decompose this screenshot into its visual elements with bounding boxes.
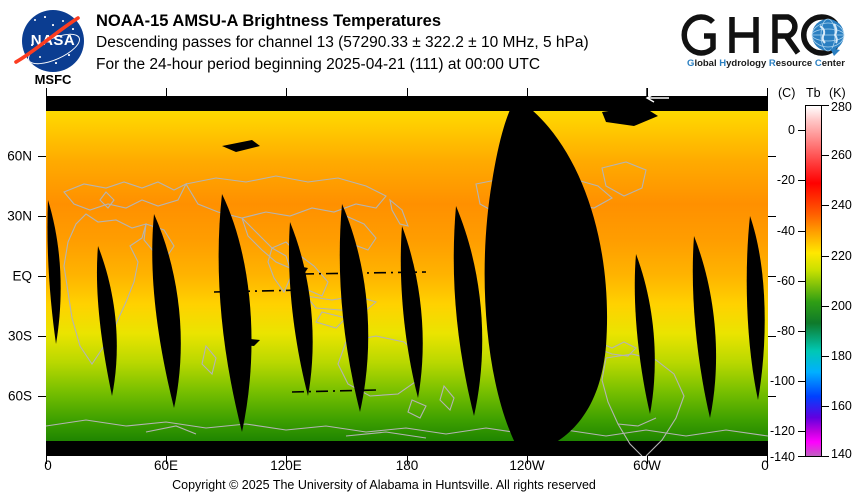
x-tick-top-120E [286,88,287,96]
x-tick-top-120W [527,88,528,96]
y-tick-right-EQ [768,276,776,277]
x-tick-top-60E [166,88,167,96]
cb-label-k-140: 140 [831,447,852,461]
colorbar-gradient [805,105,822,457]
cb-tick-c-0 [798,130,805,131]
ghrc-lettermark-icon [680,8,848,60]
cb-label-k-160: 160 [831,399,852,413]
ghrc-sub-ydrology: ydrology [726,58,769,69]
cb-tick-c-m100 [798,381,805,382]
cb-tick-k-240 [822,205,829,206]
x-axis-label-120E: 120E [270,458,302,473]
y-tick-60N [38,156,46,157]
x-axis-label-180: 180 [396,458,419,473]
cb-tick-k-280 [822,105,829,106]
x-axis-label-0: 0 [44,458,52,473]
cb-label-k-180: 180 [831,349,852,363]
cb-label-k-260: 260 [831,148,852,162]
cb-tick-k-160 [822,406,829,407]
ghrc-sub-esource: esource [776,58,815,69]
x-axis-label-60E: 60E [154,458,178,473]
cb-tick-k-220 [822,256,829,257]
orbital-data-gaps [46,96,768,456]
y-tick-right-30S [768,336,776,337]
x-tick-top-180 [407,88,408,96]
map-plot[interactable]: 0 60E 120E 180 120W 60W 0 60N 30N EQ 30S… [46,96,768,456]
nasa-center-label: MSFC [16,72,90,87]
nasa-swoosh-icon [12,12,84,68]
x-tick-top-360 [767,88,768,96]
ghrc-logo: Global Hydrology Resource Center [680,8,848,78]
ghrc-sub-global: lobal [694,58,719,69]
x-tick-top-0 [46,88,47,96]
cb-label-c-m140: -140 [770,450,795,464]
brightness-temperature-map [46,96,768,456]
colorbar-header-kelvin: (K) [829,86,846,100]
cb-label-c-m120: -120 [770,424,795,438]
page-subtitle: Descending passes for channel 13 (57290.… [96,32,676,54]
cb-label-c-m80: -80 [777,324,795,338]
cb-label-c-m20: -20 [777,173,795,187]
y-axis-label-60S: 60S [8,389,32,404]
colorbar-header-celsius: (C) [778,86,795,100]
colorbar[interactable]: 280 260 240 220 200 180 160 140 0 -20 -4… [805,105,822,457]
cb-label-c-m60: -60 [777,274,795,288]
cb-label-c-m100: -100 [770,374,795,388]
ghrc-sub-enter: enter [822,58,845,69]
y-tick-right-30N [768,216,776,217]
x-axis-label-360: 0 [761,458,769,473]
y-tick-60S [38,396,46,397]
ghrc-sub-r: R [769,58,776,69]
cb-tick-k-200 [822,306,829,307]
page-period: For the 24-hour period beginning 2025-04… [96,54,676,76]
cb-tick-c-m40 [798,231,805,232]
nasa-logo: NASA MSFC [16,8,88,86]
x-axis-label-120W: 120W [509,458,544,473]
cb-tick-c-m20 [798,180,805,181]
x-axis-label-60W: 60W [633,458,661,473]
ghrc-sub-c: C [815,58,822,69]
page-title: NOAA-15 AMSU-A Brightness Temperatures [96,10,676,32]
cb-label-k-280: 280 [831,100,852,114]
y-tick-30N [38,216,46,217]
descending-node-arrow-icon [645,88,671,104]
y-tick-30S [38,336,46,337]
cb-label-k-240: 240 [831,198,852,212]
y-tick-right-60N [768,156,776,157]
cb-tick-k-140 [822,456,829,457]
y-axis-label-30S: 30S [8,329,32,344]
cb-tick-c-m120 [798,431,805,432]
cb-label-c-0: 0 [788,123,795,137]
cb-tick-c-m80 [798,331,805,332]
y-axis-label-30N: 30N [7,209,32,224]
cb-tick-c-m140 [798,456,805,457]
cb-label-k-200: 200 [831,299,852,313]
cb-tick-c-m60 [798,281,805,282]
colorbar-header-tb: Tb [806,86,821,100]
cb-label-c-m40: -40 [777,224,795,238]
title-block: NOAA-15 AMSU-A Brightness Temperatures D… [96,10,676,76]
y-axis-label-60N: 60N [7,149,32,164]
y-axis-label-EQ: EQ [12,269,32,284]
cb-tick-k-180 [822,356,829,357]
y-tick-right-60S [768,396,776,397]
ghrc-subtitle: Global Hydrology Resource Center [686,58,846,69]
cb-tick-k-260 [822,155,829,156]
cb-label-k-220: 220 [831,249,852,263]
copyright-notice: Copyright © 2025 The University of Alaba… [0,478,768,492]
y-tick-EQ [38,276,46,277]
